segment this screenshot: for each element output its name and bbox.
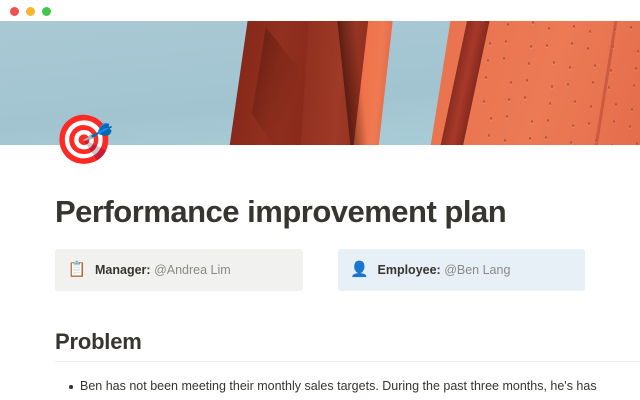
- problem-bullet-list: Ben has not been meeting their monthly s…: [55, 377, 615, 396]
- callout-employee-value[interactable]: @Ben Lang: [444, 263, 510, 277]
- section-heading-problem[interactable]: Problem: [55, 328, 142, 356]
- close-window-button[interactable]: [10, 7, 19, 16]
- bust-in-silhouette-emoji: 👤: [350, 261, 370, 279]
- document-content: Performance improvement plan 📋 Manager: …: [0, 145, 640, 400]
- callout-manager-label: Manager:: [95, 263, 151, 277]
- list-item[interactable]: Ben has not been meeting their monthly s…: [55, 377, 615, 396]
- callout-manager-value[interactable]: @Andrea Lim: [154, 263, 231, 277]
- callout-row: 📋 Manager: @Andrea Lim 👤 Employee: @Ben …: [55, 249, 585, 291]
- callout-employee-text: Employee: @Ben Lang: [378, 261, 511, 279]
- app-window: 🎯 Performance improvement plan 📋 Manager…: [0, 0, 640, 400]
- window-controls: [10, 7, 51, 16]
- dartboard-emoji[interactable]: 🎯: [54, 113, 110, 169]
- bridge-rivets: [480, 21, 640, 145]
- window-titlebar: [0, 0, 640, 21]
- minimize-window-button[interactable]: [26, 7, 35, 16]
- callout-manager[interactable]: 📋 Manager: @Andrea Lim: [55, 249, 303, 291]
- maximize-window-button[interactable]: [42, 7, 51, 16]
- clipboard-emoji: 📋: [67, 261, 87, 279]
- callout-manager-text: Manager: @Andrea Lim: [95, 261, 231, 279]
- callout-employee[interactable]: 👤 Employee: @Ben Lang: [338, 249, 586, 291]
- page-title[interactable]: Performance improvement plan: [55, 193, 506, 231]
- callout-employee-label: Employee:: [378, 263, 441, 277]
- section-divider: [55, 361, 640, 362]
